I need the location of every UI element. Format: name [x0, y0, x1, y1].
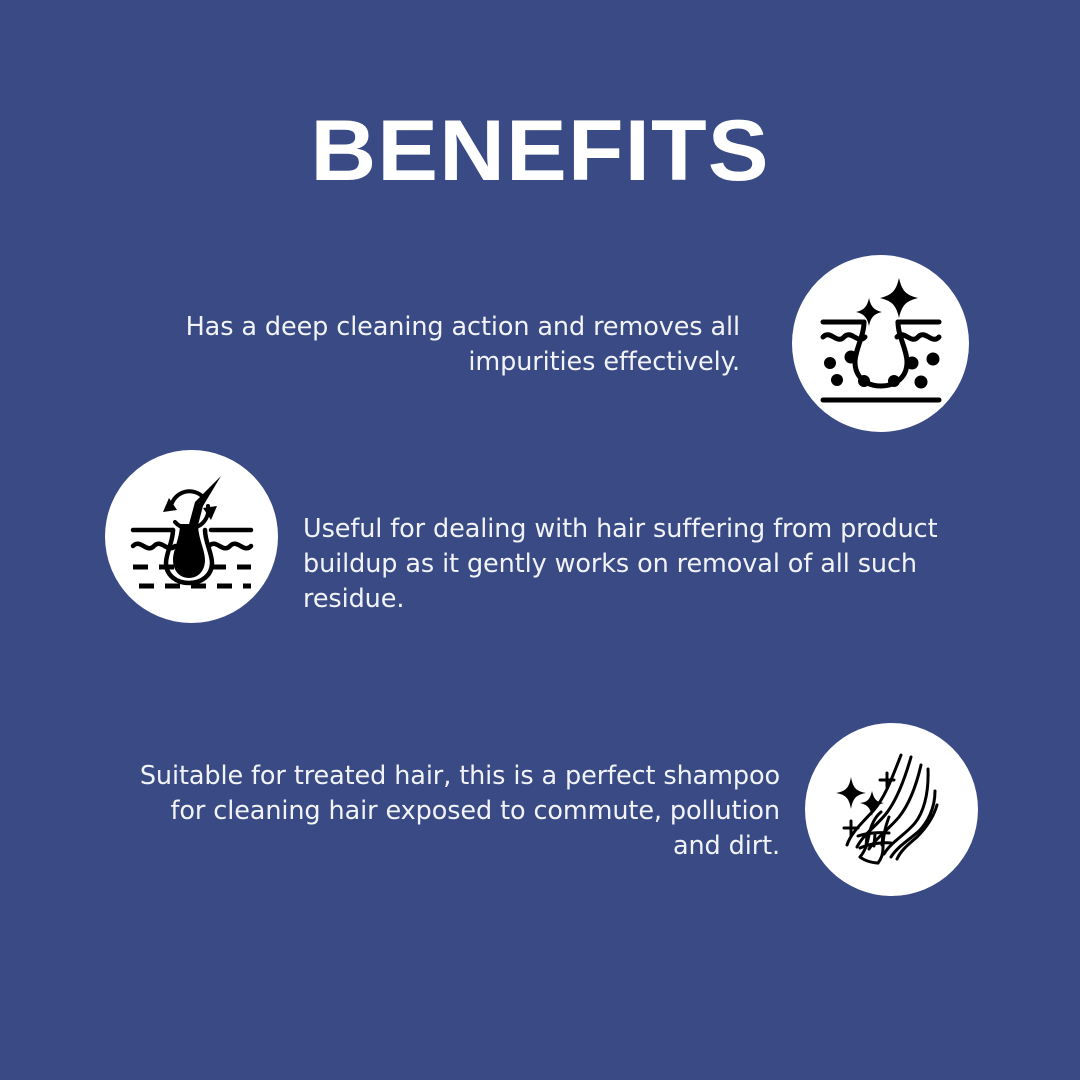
hair-follicle-icon [105, 450, 278, 623]
benefit-text-1: Has a deep cleaning action and removes a… [150, 310, 740, 380]
page-title: BENEFITS [0, 108, 1080, 194]
shiny-hair-strand-icon [805, 723, 978, 896]
benefit-text-2: Useful for dealing with hair suffering f… [303, 512, 953, 617]
benefit-text-3: Suitable for treated hair, this is a per… [130, 759, 780, 864]
benefits-poster: BENEFITS Has a deep cleaning action and … [0, 0, 1080, 1080]
pore-cleansing-icon [792, 255, 969, 432]
pore-cleansing-icon-glyph [811, 274, 951, 414]
hair-follicle-icon-glyph [125, 470, 259, 604]
shiny-hair-strand-icon-glyph [829, 747, 955, 873]
